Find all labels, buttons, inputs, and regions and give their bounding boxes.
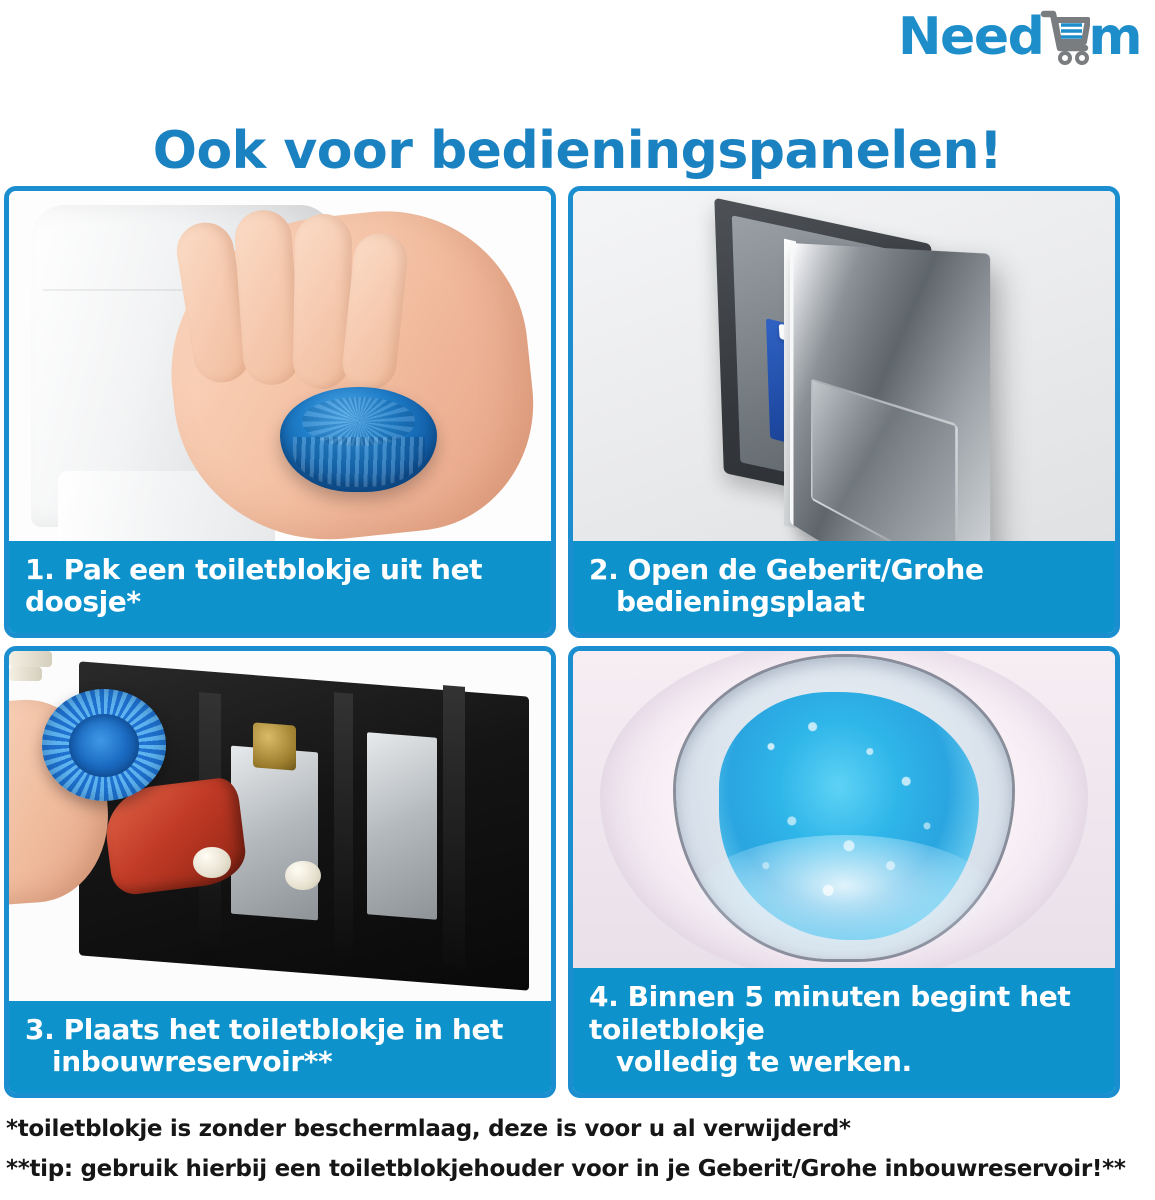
page-title: Ook voor bedieningspanelen! — [0, 121, 1155, 181]
blue-foaming-toilet-bowl-photo — [573, 651, 1115, 968]
blue-toilet-block-shape — [280, 387, 437, 492]
flush-button-shape — [811, 379, 958, 541]
placing-block-in-cistern-photo — [9, 651, 551, 1001]
step-caption-2: 2. Open de Geberit/Grohe bedieningsplaat — [573, 541, 1115, 633]
steps-grid: 1. Pak een toiletblokje uit het doosje* … — [4, 186, 1151, 1098]
step-caption-4: 4. Binnen 5 minuten begint het toiletblo… — [573, 968, 1115, 1093]
white-rod-shape — [9, 651, 52, 667]
cistern-rib-shape — [443, 685, 465, 966]
footnote-single-asterisk: *toiletblokje is zonder beschermlaag, de… — [6, 1118, 1146, 1141]
shopping-cart-icon — [1040, 8, 1090, 66]
white-rod-shape — [9, 667, 42, 682]
caption-line: inbouwreservoir** — [25, 1046, 535, 1078]
caption-line: 3. Plaats het toiletblokje in het — [25, 1014, 535, 1046]
logo-text-need: Need — [898, 11, 1043, 63]
metal-panel-shape — [231, 745, 318, 920]
brand-logo[interactable]: Need m — [898, 6, 1141, 68]
caption-line: bedieningsplaat — [589, 586, 1099, 618]
flush-plate-opened-photo — [573, 191, 1115, 541]
metal-panel-shape — [367, 732, 437, 919]
caption-line: volledig te werken. — [589, 1046, 1099, 1078]
caption-line: 4. Binnen 5 minuten begint het toiletblo… — [589, 981, 1099, 1045]
caption-line: 2. Open de Geberit/Grohe — [589, 554, 1099, 586]
footnote-double-asterisk: **tip: gebruik hierbij een toiletblokjeh… — [6, 1158, 1146, 1181]
step-card-3: 3. Plaats het toiletblokje in het inbouw… — [4, 646, 556, 1098]
caption-line: 1. Pak een toiletblokje uit het doosje* — [25, 554, 535, 618]
cistern-rib-shape — [334, 692, 353, 959]
step-card-2: 2. Open de Geberit/Grohe bedieningsplaat — [568, 186, 1120, 638]
step-caption-3: 3. Plaats het toiletblokje in het inbouw… — [9, 1001, 551, 1093]
water-splash-shape — [692, 835, 996, 962]
step-card-1: 1. Pak een toiletblokje uit het doosje* — [4, 186, 556, 638]
brass-fitting-shape — [253, 723, 296, 772]
white-knob-shape — [285, 861, 320, 891]
footnotes: *toiletblokje is zonder beschermlaag, de… — [6, 1118, 1146, 1198]
step-card-4: 4. Binnen 5 minuten begint het toiletblo… — [568, 646, 1120, 1098]
logo-text-m: m — [1088, 11, 1141, 63]
blue-toilet-block-shape — [42, 689, 167, 801]
hand-holding-toilet-block-photo — [9, 191, 551, 541]
chrome-flush-plate-shape — [790, 243, 989, 540]
step-caption-1: 1. Pak een toiletblokje uit het doosje* — [9, 541, 551, 633]
